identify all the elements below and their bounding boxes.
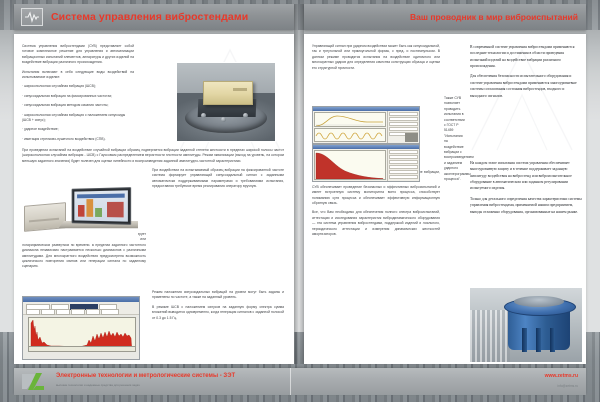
laptop-lid: [72, 187, 132, 225]
right-paragraph-1: В современной системе управления виброст…: [470, 44, 582, 69]
parameter-panel: [387, 149, 419, 181]
plot-stack: [313, 149, 387, 181]
footer-website-link[interactable]: www.zetms.ru: [545, 373, 578, 379]
laptop-screen: [74, 190, 128, 221]
footer-email-link[interactable]: info@zetms.ru: [557, 384, 578, 388]
support-strut: [550, 328, 555, 352]
page-gutter: [294, 4, 304, 364]
walkway-structure: [470, 310, 510, 362]
sine-paragraph: При воздействии на испытываемый образец …: [152, 168, 284, 190]
header-bar-right: Ваш проводник в мир виброиспытаний: [304, 4, 586, 30]
parameter-panel: [387, 111, 419, 143]
shock-paragraph: Управляющий сигнал при ударном воздейств…: [312, 44, 440, 71]
left-column-random: При проведении испытаний на воздействие …: [22, 148, 284, 168]
right-paragraph-3: На каждом этапе испытания система управл…: [470, 160, 582, 192]
bolt-icon: [221, 117, 226, 122]
plot-axis: [29, 346, 135, 351]
screen-panel: [107, 202, 124, 218]
left-column-mixed: Режим наложения синусоидальных вибраций …: [152, 290, 284, 325]
toolbar-field: [41, 309, 55, 315]
param-row: [389, 155, 418, 159]
param-row: [389, 170, 418, 174]
list-item: · широкополосная случайная вибрация (ШСВ…: [22, 84, 134, 89]
zetms-logo-icon: [20, 371, 50, 392]
spectrum-plot: [28, 317, 136, 352]
right-column-protection: На каждом этапе испытания система управл…: [470, 160, 582, 219]
bolt-icon: [243, 113, 248, 118]
screen-bar: [86, 199, 93, 217]
list-item: · синусоидальная вибрация на фиксированн…: [22, 94, 134, 99]
mixed-paragraph-2: В режиме ШСВ с наложением синусов на зад…: [152, 305, 284, 321]
param-row: [389, 175, 418, 179]
tagline: Ваш проводник в мир виброиспытаний: [410, 12, 578, 22]
footer-bar: Электронные технологии и метрологические…: [14, 368, 586, 395]
param-row: [389, 165, 418, 169]
screenshot-body: [313, 111, 419, 143]
left-column-intro: Система управления вибростендами (СУВ) п…: [22, 44, 134, 146]
gost-paragraph: Также СУВ позволяет проводить испытания …: [444, 96, 466, 183]
screen-bar: [95, 208, 102, 217]
param-row: [389, 112, 418, 116]
param-row: [389, 117, 418, 121]
guarantee-paragraph: СУВ обеспечивает проведение безопасных и…: [312, 185, 440, 207]
photo-spectrum-screenshot: photo: software screenshot with red spec…: [22, 296, 140, 360]
left-column-sine: При воздействии на испытываемый образец …: [152, 168, 284, 194]
types-lead: Испытания включают в себя следующие виды…: [22, 70, 134, 81]
list-item: · имитация стрелково-пушечного воздейств…: [22, 137, 134, 142]
shaker-armature-table: [514, 296, 564, 307]
right-paragraph-4: Только для детального определения качест…: [470, 196, 582, 215]
photo-blue-shaker: photo: blue electrodynamic shaker: [470, 288, 582, 362]
param-row: [389, 150, 418, 154]
photo-shock-screenshot: photo: software screenshot with shock re…: [312, 144, 420, 182]
screen-titlebar: [77, 194, 125, 199]
page-title: Система управления вибростендами: [51, 11, 248, 23]
sweep-plot: [314, 112, 386, 127]
list-item: · ударное воздействие;: [22, 127, 134, 132]
laptop: [64, 188, 130, 228]
plot-stack: [313, 111, 387, 143]
sine-waveform-plot: [314, 128, 386, 143]
status-panel: [405, 133, 418, 142]
list-item: · синусоидальная вибрация методом качани…: [22, 103, 134, 108]
footer-divider: [290, 368, 291, 395]
right-column-modern: В современной системе управления виброст…: [470, 44, 582, 103]
support-strut: [536, 328, 541, 352]
param-row: [389, 127, 418, 131]
shock-decay-plot: [314, 150, 386, 180]
middle-column-gost: Также СУВ позволяет проводить испытания …: [444, 96, 466, 187]
toolbar-field: [26, 309, 40, 315]
photo-laptop-controller: photo: laptop with vibration control sof…: [22, 182, 138, 244]
photo-sine-screenshot: photo: software screenshot with sine wav…: [312, 106, 420, 144]
waveform-icon: [21, 8, 43, 26]
device-under-test: [203, 81, 253, 105]
brochure-spread: Система управления вибростендами Ваш про…: [0, 0, 600, 402]
intro-paragraph: Система управления вибростендами (СУВ) п…: [22, 44, 134, 66]
toolbar-field: [71, 309, 85, 315]
footer-company-name: Электронные технологии и метрологические…: [56, 373, 235, 379]
support-strut: [522, 328, 527, 352]
toolbar-field: [56, 309, 70, 315]
middle-column-shock: Управляющий сигнал при ударном воздейств…: [312, 44, 440, 75]
list-item: · широкополосная случайная вибрация с на…: [22, 113, 134, 124]
all-paragraph: Все, что Вам необходимо для обеспечения …: [312, 210, 440, 237]
photo-shaker-table: photo: accelerometer mounted on shaker t…: [176, 62, 276, 142]
param-row: [389, 122, 418, 126]
right-paragraph-2: Для обеспечения безопасности испытательн…: [470, 73, 582, 98]
param-row: [389, 160, 418, 164]
random-vibration-paragraph: При проведении испытаний на воздействие …: [22, 148, 284, 164]
mixed-paragraph: Режим наложения синусоидальных вибраций …: [152, 290, 284, 301]
toolbar-field: [86, 309, 100, 315]
toolbar-field: [101, 309, 119, 315]
screenshot-body: [313, 149, 419, 181]
screenshot-toolbar: [23, 302, 139, 315]
bolt-icon: [201, 113, 206, 118]
screen-bar: [78, 205, 85, 217]
footer-slogan: высокие технологии и надежные средства д…: [56, 383, 140, 387]
header-bar-left: Система управления вибростендами: [14, 4, 294, 30]
